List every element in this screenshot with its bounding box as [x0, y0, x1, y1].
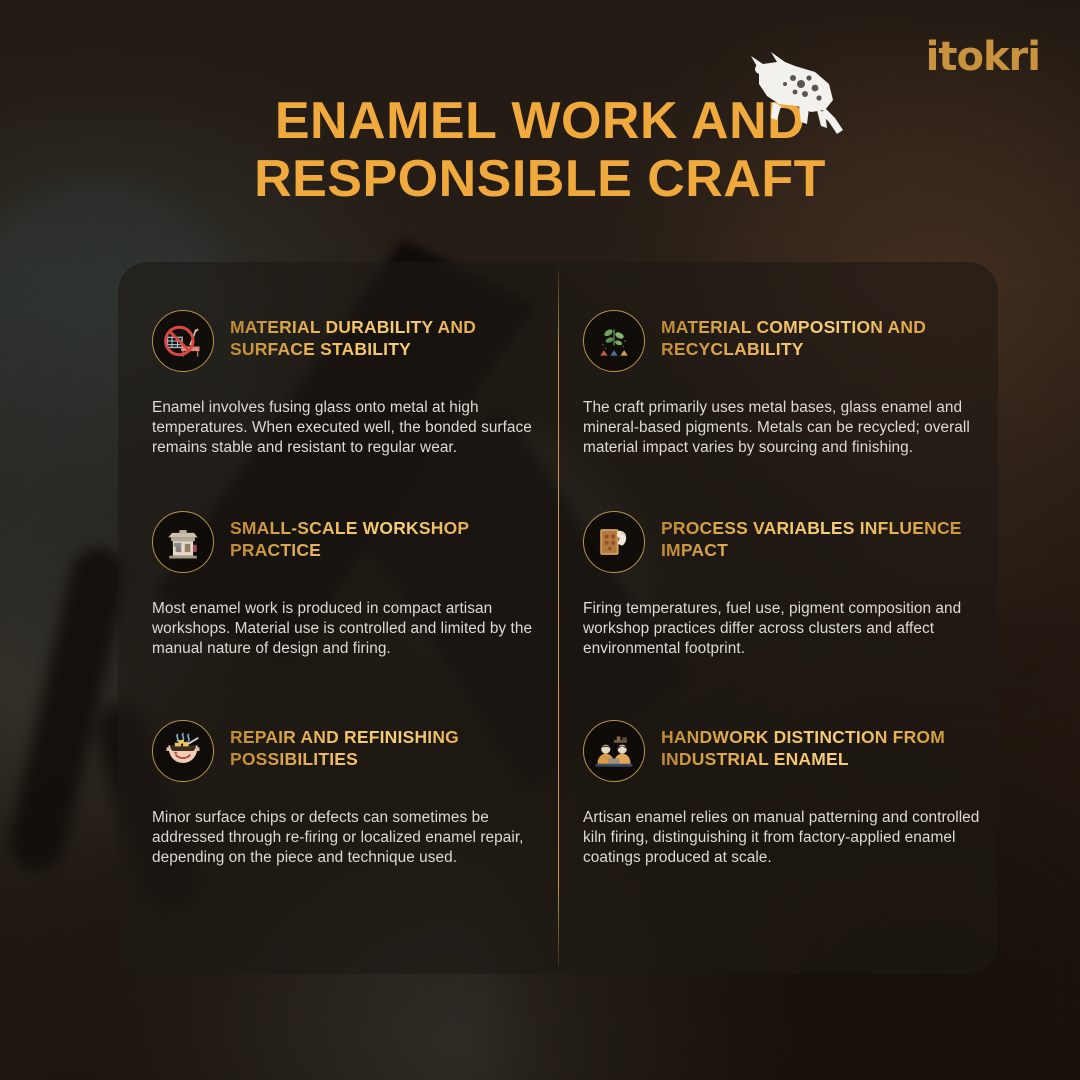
card-header: REPAIR AND REFINISHING POSSIBILITIES [152, 718, 558, 782]
cow-illustration-icon [737, 48, 849, 140]
card-material-composition: MATERIAL COMPOSITION AND RECYCLABILITY T… [583, 308, 989, 458]
cards-grid: MATERIAL DURABILITY AND SURFACE STABILIT… [118, 262, 998, 974]
card-repair-refinishing: REPAIR AND REFINISHING POSSIBILITIES Min… [152, 718, 558, 868]
card-header: MATERIAL COMPOSITION AND RECYCLABILITY [583, 308, 989, 372]
card-title: PROCESS VARIABLES INFLUENCE IMPACT [661, 509, 989, 561]
sprout-pigments-icon [583, 310, 645, 372]
card-title: SMALL-SCALE WORKSHOP PRACTICE [230, 509, 558, 561]
card-small-scale-workshop: SMALL-SCALE WORKSHOP PRACTICE Most ename… [152, 509, 558, 659]
hand-block-print-icon [583, 511, 645, 573]
card-process-variables: PROCESS VARIABLES INFLUENCE IMPACT Firin… [583, 509, 989, 659]
two-artisans-icon [583, 720, 645, 782]
card-header: SMALL-SCALE WORKSHOP PRACTICE [152, 509, 558, 573]
card-header: PROCESS VARIABLES INFLUENCE IMPACT [583, 509, 989, 573]
workshop-shop-icon [152, 511, 214, 573]
header: itokri ENAMEL WORK AND RESPONSIBLE CRAFT [0, 0, 1080, 240]
card-title: MATERIAL DURABILITY AND SURFACE STABILIT… [230, 308, 558, 360]
steaming-pot-icon [152, 720, 214, 782]
card-body: Most enamel work is produced in compact … [152, 599, 558, 659]
content-panel: MATERIAL DURABILITY AND SURFACE STABILIT… [118, 262, 998, 974]
card-body: Minor surface chips or defects can somet… [152, 808, 558, 868]
brand-logo: itokri [926, 34, 1040, 80]
page-title-line-2: RESPONSIBLE CRAFT [0, 150, 1080, 208]
card-header: HANDWORK DISTINCTION FROM INDUSTRIAL ENA… [583, 718, 989, 782]
card-material-durability: MATERIAL DURABILITY AND SURFACE STABILIT… [152, 308, 558, 458]
card-body: Firing temperatures, fuel use, pigment c… [583, 599, 989, 659]
card-body: Artisan enamel relies on manual patterni… [583, 808, 989, 868]
card-body: The craft primarily uses metal bases, gl… [583, 398, 989, 458]
card-header: MATERIAL DURABILITY AND SURFACE STABILIT… [152, 308, 558, 372]
card-title: MATERIAL COMPOSITION AND RECYCLABILITY [661, 308, 989, 360]
card-handwork-distinction: HANDWORK DISTINCTION FROM INDUSTRIAL ENA… [583, 718, 989, 868]
no-workbench-icon [152, 310, 214, 372]
card-title: REPAIR AND REFINISHING POSSIBILITIES [230, 718, 558, 770]
page-title: ENAMEL WORK AND RESPONSIBLE CRAFT [0, 92, 1080, 208]
card-body: Enamel involves fusing glass onto metal … [152, 398, 558, 458]
page-title-line-1: ENAMEL WORK AND [0, 92, 1080, 150]
card-title: HANDWORK DISTINCTION FROM INDUSTRIAL ENA… [661, 718, 989, 770]
